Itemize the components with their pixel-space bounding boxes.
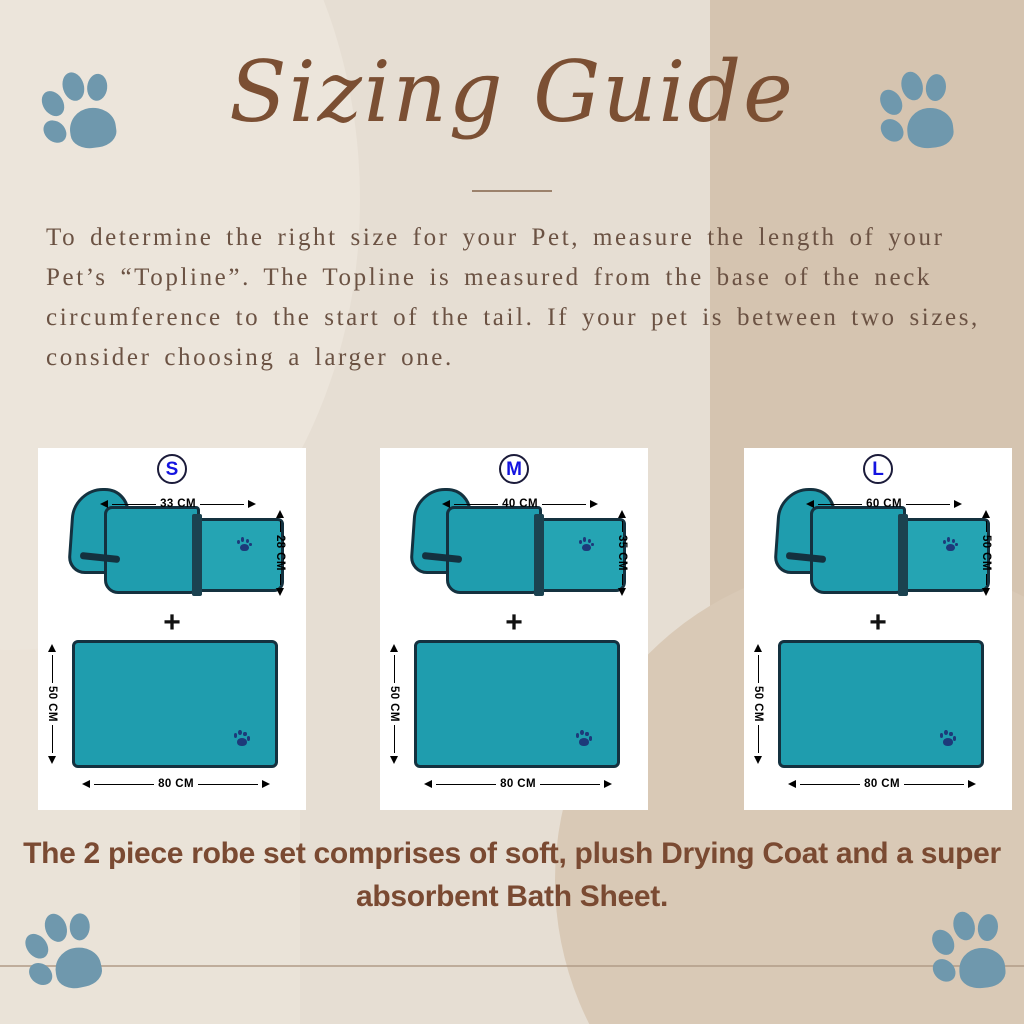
arrow-down-icon [754,756,762,764]
sheet-width-dimension-small: 80 CM [82,778,270,790]
arrow-up-icon [276,510,284,518]
arrow-left-icon [442,500,450,508]
bottom-divider-rule [0,965,1024,967]
paw-logo-icon-sheet [233,729,251,747]
coat-body [446,506,542,594]
arrow-down-icon [390,756,398,764]
coat-width-label: 60 CM [866,498,902,510]
arrow-left-icon [424,780,432,788]
size-card-large[interactable]: L 60 CM 50 CM + [744,448,1012,810]
arrow-right-icon [590,500,598,508]
arrow-down-icon [982,588,990,596]
coat-width-dimension-medium: 40 CM [442,498,598,510]
bottom-caption: The 2 piece robe set comprises of soft, … [16,832,1008,918]
coat-skirt [196,518,284,592]
arrow-right-icon [248,500,256,508]
coat-skirt [538,518,626,592]
arrow-left-icon [82,780,90,788]
arrow-right-icon [954,500,962,508]
bath-sheet-illustration-medium [414,640,620,768]
arrow-right-icon [604,780,612,788]
arrow-up-icon [48,644,56,652]
sheet-height-dimension-medium: 50 CM [388,644,400,764]
coat-height-dimension-medium: 35 CM [616,510,628,596]
coat-width-label: 40 CM [502,498,538,510]
coat-height-label: 35 CM [616,535,628,571]
sheet-width-label: 80 CM [864,778,900,790]
plus-separator-small: + [163,608,181,638]
sheet-height-dimension-small: 50 CM [46,644,58,764]
size-card-small[interactable]: S 33 CM 28 CM + [38,448,306,810]
coat-height-dimension-small: 28 CM [274,510,286,596]
arrow-left-icon [806,500,814,508]
arrow-right-icon [262,780,270,788]
arrow-up-icon [754,644,762,652]
sheet-width-dimension-large: 80 CM [788,778,976,790]
paw-logo-icon-sheet [575,729,593,747]
arrow-left-icon [100,500,108,508]
title-divider [472,190,552,192]
coat-width-label: 33 CM [160,498,196,510]
paw-logo-icon-sheet [939,729,957,747]
arrow-down-icon [276,588,284,596]
bath-sheet-illustration-small [72,640,278,768]
size-cards-row: S 33 CM 28 CM + [0,448,1024,810]
sheet-height-label: 50 CM [388,686,400,722]
size-card-medium[interactable]: M 40 CM 35 CM + [380,448,648,810]
coat-belt [898,514,908,596]
coat-skirt [902,518,990,592]
sheet-width-dimension-medium: 80 CM [424,778,612,790]
sheet-height-dimension-large: 50 CM [752,644,764,764]
arrow-up-icon [982,510,990,518]
page-title: Sizing Guide [0,48,1024,136]
coat-width-dimension-small: 33 CM [100,498,256,510]
arrow-left-icon [788,780,796,788]
sheet-width-label: 80 CM [500,778,536,790]
arrow-down-icon [618,588,626,596]
intro-paragraph: To determine the right size for your Pet… [46,218,994,378]
arrow-right-icon [968,780,976,788]
size-badge-medium: M [499,454,529,484]
plus-separator-medium: + [505,608,523,638]
arrow-up-icon [390,644,398,652]
coat-body [810,506,906,594]
paw-logo-icon-coat [236,536,252,552]
coat-width-dimension-large: 60 CM [806,498,962,510]
arrow-down-icon [48,756,56,764]
arrow-up-icon [618,510,626,518]
plus-separator-large: + [869,608,887,638]
sheet-width-label: 80 CM [158,778,194,790]
coat-belt [192,514,202,596]
coat-height-label: 50 CM [980,535,992,571]
size-badge-small: S [157,454,187,484]
sheet-height-label: 50 CM [46,686,58,722]
bath-sheet-illustration-large [778,640,984,768]
paw-logo-icon-coat [942,536,958,552]
sheet-height-label: 50 CM [752,686,764,722]
coat-height-label: 28 CM [274,535,286,571]
coat-body [104,506,200,594]
coat-height-dimension-large: 50 CM [980,510,992,596]
paw-logo-icon-coat [578,536,594,552]
coat-belt [534,514,544,596]
size-badge-large: L [863,454,893,484]
